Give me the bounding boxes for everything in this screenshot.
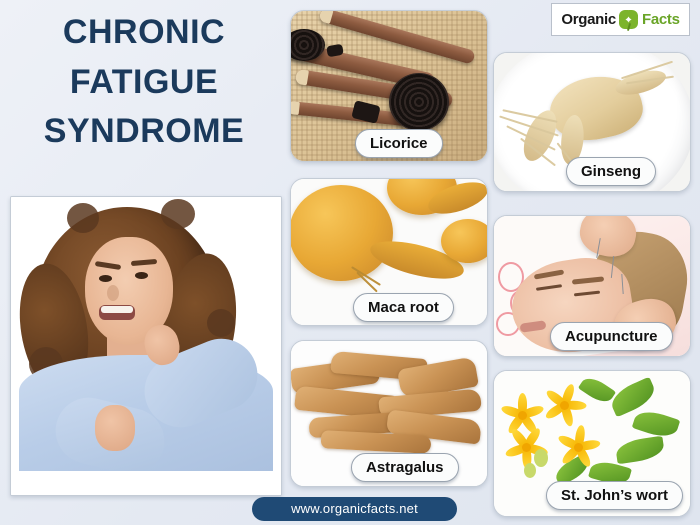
label-acupuncture: Acupuncture: [550, 322, 673, 351]
card-maca-root[interactable]: Maca root: [290, 178, 488, 326]
website-url-bar[interactable]: www.organicfacts.net: [252, 497, 457, 521]
infographic-canvas: CHRONIC FATIGUE SYNDROME Organic Facts: [0, 0, 700, 525]
card-licorice[interactable]: Licorice: [290, 10, 488, 162]
logo-word-organic: Organic: [561, 11, 616, 28]
label-ginseng: Ginseng: [566, 157, 656, 186]
logo-word-facts: Facts: [642, 11, 680, 28]
card-astragalus[interactable]: Astragalus: [290, 340, 488, 487]
woman-photo-image: [11, 197, 281, 495]
label-maca-root: Maca root: [353, 293, 454, 322]
card-ginseng[interactable]: Ginseng: [493, 52, 691, 192]
label-astragalus: Astragalus: [351, 453, 459, 482]
card-acupuncture[interactable]: Acupuncture: [493, 215, 691, 357]
label-st-johns-wort: St. John’s wort: [546, 481, 683, 510]
title-line-1: CHRONIC: [8, 8, 280, 58]
label-licorice: Licorice: [355, 129, 443, 158]
page-title: CHRONIC FATIGUE SYNDROME: [8, 8, 280, 157]
title-line-2: FATIGUE: [8, 58, 280, 108]
card-st-johns-wort[interactable]: St. John’s wort: [493, 370, 691, 517]
clover-icon: [618, 9, 640, 31]
organic-facts-logo[interactable]: Organic Facts: [551, 3, 690, 36]
title-line-3: SYNDROME: [8, 107, 280, 157]
fatigue-woman-photo: [10, 196, 282, 496]
